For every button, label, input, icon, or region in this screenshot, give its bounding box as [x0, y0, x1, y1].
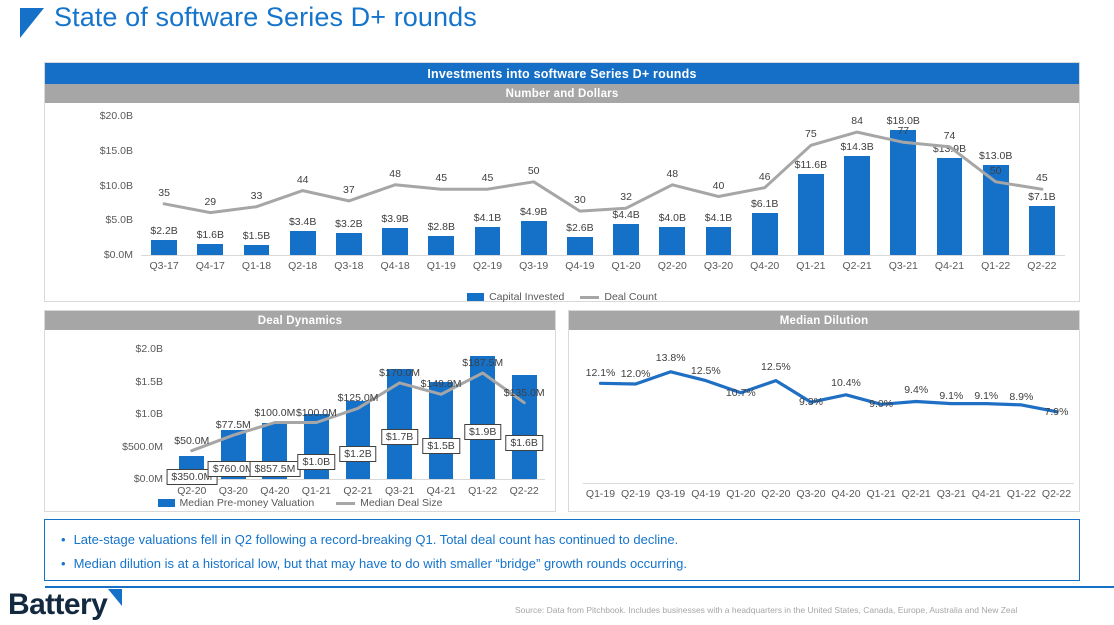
line-value-label: $149.8M	[411, 378, 471, 390]
line-value-label: 45	[462, 172, 514, 184]
line-value-label: $187.5M	[453, 357, 513, 369]
y-axis-tick-label: $15.0B	[65, 145, 133, 157]
x-axis-tick-label: Q1-19	[415, 260, 467, 272]
line-value-label: 48	[646, 168, 698, 180]
median-dilution-plot: 12.1%12.0%13.8%12.5%10.7%12.5%9.3%10.4%9…	[569, 331, 1079, 513]
line-value-label: 48	[369, 168, 421, 180]
line-value-label: 30	[554, 194, 606, 206]
takeaways-box: •Late-stage valuations fell in Q2 follow…	[44, 519, 1080, 581]
bar-capital-invested	[475, 227, 501, 256]
battery-logo: Battery	[8, 588, 107, 622]
bar-capital-invested	[382, 228, 408, 255]
bar-capital-invested	[752, 213, 778, 255]
bar-value-label: $2.6B	[546, 222, 614, 234]
chart-line-overlay	[569, 331, 1079, 513]
line-value-label: $135.0M	[494, 387, 554, 399]
line-value-label: 77	[877, 125, 929, 137]
line-value-label: 12.0%	[612, 368, 660, 380]
bar-capital-invested	[1029, 206, 1055, 255]
legend-label: Median Pre-money Valuation	[180, 497, 315, 509]
x-axis-tick-label: Q3-21	[877, 260, 929, 272]
line-value-label: 8.9%	[997, 391, 1045, 403]
bar-capital-invested	[798, 174, 824, 255]
bar-value-label: $6.1B	[731, 198, 799, 210]
line-value-label: $100.0M	[286, 407, 346, 419]
line-value-label: 9.3%	[787, 396, 835, 408]
line-value-label: 37	[323, 184, 375, 196]
line-value-label: 44	[277, 174, 329, 186]
deal-dynamics-panel: Deal Dynamics $0.0M$500.0M$1.0B$1.5B$2.0…	[44, 310, 556, 512]
legend-line-swatch-icon	[336, 502, 355, 505]
bar-capital-invested	[706, 227, 732, 256]
median-dilution-banner: Median Dilution	[569, 311, 1079, 330]
line-value-label: 84	[831, 115, 883, 127]
title-bar: State of software Series D+ rounds	[0, 0, 1114, 48]
x-axis-tick-label: Q1-18	[231, 260, 283, 272]
x-axis-tick-label: Q1-22	[970, 260, 1022, 272]
y-axis-tick-label: $20.0B	[65, 110, 133, 122]
line-value-label: 10.7%	[717, 387, 765, 399]
legend-item[interactable]: Median Pre-money Valuation	[158, 497, 315, 509]
legend-line-swatch-icon	[580, 296, 599, 299]
line-value-label: 46	[739, 171, 791, 183]
bar-capital-invested	[613, 224, 639, 255]
bar-value-label: $4.1B	[685, 212, 753, 224]
line-value-label: 7.9%	[1033, 406, 1081, 418]
x-axis-line	[171, 479, 545, 480]
main-chart-panel: Investments into software Series D+ roun…	[44, 62, 1080, 302]
x-axis-tick-label: Q3-19	[508, 260, 560, 272]
bar-capital-invested	[983, 165, 1009, 255]
bar-value-callout: $1.7B	[381, 429, 418, 445]
main-chart-subbanner: Number and Dollars	[45, 84, 1079, 103]
line-value-label: 33	[231, 190, 283, 202]
line-value-label: $170.0M	[370, 367, 430, 379]
line-value-label: 13.8%	[647, 352, 695, 364]
flag-icon	[20, 8, 44, 38]
line-value-label: 35	[138, 187, 190, 199]
line-value-label: 75	[785, 128, 837, 140]
bar-value-label: $7.1B	[1008, 191, 1076, 203]
bar-median-premoney-valuation	[470, 356, 495, 480]
x-axis-tick-label: Q4-21	[924, 260, 976, 272]
x-axis-tick-label: Q2-22	[498, 485, 550, 497]
main-chart-plot: $0.0M$5.0B$10.0B$15.0B$20.0B$2.2B$1.6B$1…	[45, 104, 1079, 302]
footer-divider	[45, 586, 1114, 588]
x-axis-tick-label: Q3-17	[138, 260, 190, 272]
y-axis-tick-label: $10.0B	[65, 180, 133, 192]
line-value-label: $77.5M	[203, 419, 263, 431]
bar-median-premoney-valuation	[346, 401, 371, 479]
bullet-item: •Late-stage valuations fell in Q2 follow…	[61, 533, 1063, 547]
bar-capital-invested	[844, 156, 870, 255]
y-axis-tick-label: $0.0M	[55, 473, 163, 485]
legend-item[interactable]: Deal Count	[580, 291, 657, 303]
line-value-label: 74	[924, 130, 976, 142]
bar-value-callout: $1.2B	[339, 446, 376, 462]
bar-capital-invested	[521, 221, 547, 255]
bar-capital-invested	[290, 231, 316, 255]
bar-capital-invested	[336, 233, 362, 255]
legend-item[interactable]: Capital Invested	[467, 291, 564, 303]
bar-capital-invested	[659, 227, 685, 255]
bar-median-premoney-valuation	[387, 369, 412, 480]
line-value-label: 45	[1016, 172, 1068, 184]
main-chart-banner: Investments into software Series D+ roun…	[45, 63, 1079, 84]
bar-capital-invested	[244, 245, 270, 255]
median-dilution-panel: Median Dilution 12.1%12.0%13.8%12.5%10.7…	[568, 310, 1080, 512]
line-value-label: 12.5%	[752, 361, 800, 373]
bar-capital-invested	[567, 237, 593, 255]
bullet-dot-icon: •	[61, 533, 66, 547]
bar-value-callout: $857.5M	[249, 461, 300, 477]
bar-value-label: $13.0B	[962, 150, 1030, 162]
x-axis-tick-label: Q4-17	[184, 260, 236, 272]
legend-bar-swatch-icon	[467, 293, 484, 301]
line-value-label: 45	[415, 172, 467, 184]
x-axis-tick-label: Q2-18	[277, 260, 329, 272]
x-axis-tick-label: Q2-22	[1016, 260, 1068, 272]
bar-value-label: $14.3B	[823, 141, 891, 153]
deal-dynamics-plot: $0.0M$500.0M$1.0B$1.5B$2.0B$50.0M$77.5M$…	[45, 331, 555, 513]
bar-median-premoney-valuation	[429, 382, 454, 480]
line-value-label: 50	[970, 165, 1022, 177]
bullet-text: Late-stage valuations fell in Q2 followi…	[74, 533, 679, 547]
x-axis-tick-label: Q3-18	[323, 260, 375, 272]
line-value-label: 29	[184, 196, 236, 208]
bar-value-label: $4.9B	[500, 206, 568, 218]
deal-dynamics-banner: Deal Dynamics	[45, 311, 555, 330]
y-axis-tick-label: $5.0B	[65, 214, 133, 226]
x-axis-tick-label: Q3-20	[693, 260, 745, 272]
line-value-label: $50.0M	[162, 435, 222, 447]
bar-value-callout: $1.9B	[464, 424, 501, 440]
bar-capital-invested	[428, 236, 454, 256]
x-axis-tick-label: Q2-22	[1035, 488, 1079, 500]
legend-label: Capital Invested	[489, 291, 564, 303]
x-axis-line	[583, 483, 1074, 484]
bar-capital-invested	[937, 158, 963, 255]
bar-value-callout: $1.6B	[505, 435, 542, 451]
y-axis-tick-label: $1.5B	[55, 376, 163, 388]
page-title: State of software Series D+ rounds	[54, 2, 477, 33]
legend-item[interactable]: Median Deal Size	[336, 497, 442, 509]
bar-capital-invested	[151, 240, 177, 255]
legend-bar-swatch-icon	[158, 499, 175, 507]
x-axis-line	[141, 255, 1065, 256]
line-value-label: 9.0%	[857, 398, 905, 410]
slide: State of software Series D+ rounds Inves…	[0, 0, 1114, 625]
main-chart-legend: Capital InvestedDeal Count	[45, 291, 1079, 303]
bar-value-callout: $1.5B	[422, 438, 459, 454]
x-axis-tick-label: Q2-20	[646, 260, 698, 272]
deal-dynamics-legend: Median Pre-money ValuationMedian Deal Si…	[45, 497, 555, 509]
y-axis-tick-label: $0.0M	[65, 249, 133, 261]
x-axis-tick-label: Q1-20	[600, 260, 652, 272]
legend-label: Deal Count	[604, 291, 657, 303]
bar-capital-invested	[197, 244, 223, 255]
bar-capital-invested	[890, 130, 916, 255]
source-note: Source: Data from Pitchbook. Includes bu…	[515, 605, 1114, 615]
bar-value-label: $11.6B	[777, 159, 845, 171]
bullet-dot-icon: •	[61, 557, 66, 571]
y-axis-tick-label: $2.0B	[55, 343, 163, 355]
x-axis-tick-label: Q4-20	[739, 260, 791, 272]
legend-label: Median Deal Size	[360, 497, 442, 509]
x-axis-tick-label: Q2-19	[462, 260, 514, 272]
line-value-label: 40	[693, 180, 745, 192]
line-value-label: 32	[600, 191, 652, 203]
line-value-label: 50	[508, 165, 560, 177]
y-axis-tick-label: $1.0B	[55, 408, 163, 420]
x-axis-tick-label: Q4-18	[369, 260, 421, 272]
line-value-label: 12.5%	[682, 365, 730, 377]
bullet-item: •Median dilution is at a historical low,…	[61, 557, 1063, 571]
bar-value-label: $1.5B	[223, 230, 291, 242]
x-axis-tick-label: Q1-21	[785, 260, 837, 272]
logo-flag-icon	[108, 589, 122, 606]
line-value-label: 10.4%	[822, 377, 870, 389]
bar-value-callout: $1.0B	[298, 454, 335, 470]
bullet-text: Median dilution is at a historical low, …	[74, 557, 687, 571]
y-axis-tick-label: $500.0M	[55, 441, 163, 453]
x-axis-tick-label: Q4-19	[554, 260, 606, 272]
line-value-label: $125.0M	[328, 392, 388, 404]
x-axis-tick-label: Q2-21	[831, 260, 883, 272]
